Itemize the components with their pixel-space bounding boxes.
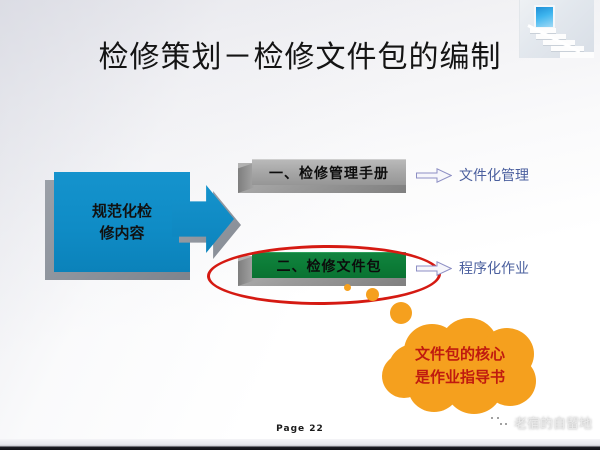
plaque-face: 一、检修管理手册 [252,159,406,185]
callout-cloud: 文件包的核心 是作业指导书 [362,288,542,428]
slide-canvas: 检修策划－检修文件包的编制 规范化检 修内容 一、检修管理手册 二、检修文件包 [0,0,600,450]
slide-bottom-edge [0,439,600,450]
callout-text-line1: 文件包的核心 [415,345,505,363]
source-box-label-line1: 规范化检 [92,202,152,220]
side-label-text: 程序化作业 [459,258,529,278]
wechat-eye [500,423,502,425]
callout-trail-dot-medium [366,288,379,301]
hollow-right-arrow-icon [416,168,452,183]
side-label-documentation: 文件化管理 [416,165,529,185]
hollow-right-arrow-icon [416,261,452,276]
watermark: 老宿的自留地 [487,411,592,433]
page-title: 检修策划－检修文件包的编制 [0,40,600,76]
side-label-text: 文件化管理 [459,165,529,185]
item-plaque-manual[interactable]: 一、检修管理手册 [238,163,406,193]
wechat-eye [505,423,507,425]
wechat-bubble-small [496,419,509,430]
source-box: 规范化检 修内容 [45,172,190,272]
source-box-label: 规范化检 修内容 [92,200,152,244]
plaque-label: 一、检修管理手册 [269,163,389,183]
wechat-eye [491,417,493,419]
source-box-label-line2: 修内容 [99,224,144,242]
wechat-icon [487,411,509,433]
callout-text-line2: 是作业指导书 [415,368,505,386]
photo-window [534,5,555,29]
side-label-procedural-work: 程序化作业 [416,258,529,278]
callout-text: 文件包的核心 是作业指导书 [380,318,540,414]
callout-trail-dot-small [344,284,351,291]
source-box-face: 规范化检 修内容 [54,172,190,272]
watermark-text: 老宿的自留地 [514,413,592,432]
wechat-eye [497,417,499,419]
